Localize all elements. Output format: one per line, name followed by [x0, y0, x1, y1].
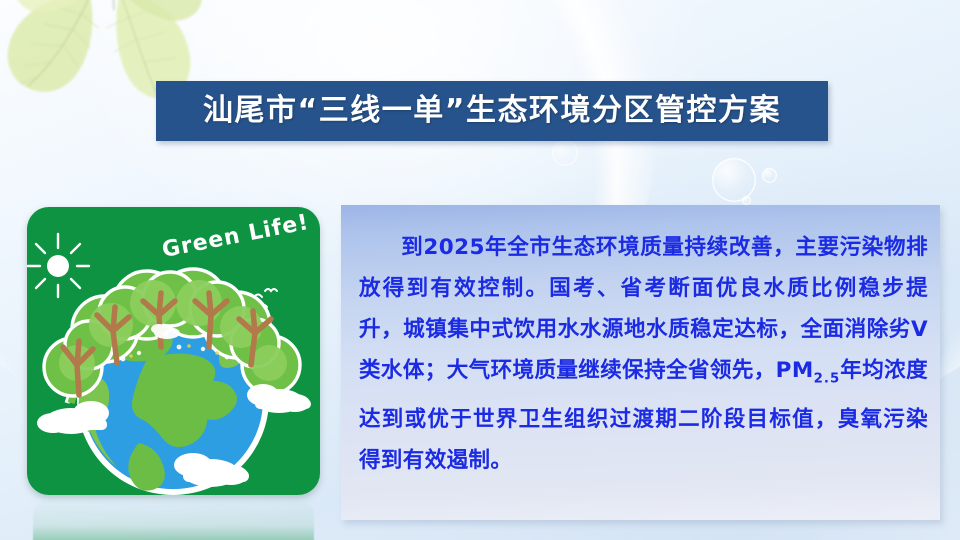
- bubble-decoration-icon: [552, 140, 578, 166]
- pm-subscript: 2.5: [814, 371, 841, 386]
- body-text-box: 到2025年全市生态环境质量持续改善，主要污染物排放得到有效控制。国考、省考断面…: [341, 205, 940, 520]
- bubble-decoration-icon: [712, 158, 756, 202]
- slide-title-bar: 汕尾市“三线一单”生态环境分区管控方案: [156, 81, 828, 141]
- illustration-card: Green Life!: [27, 207, 320, 495]
- bubble-decoration-icon: [742, 196, 751, 205]
- illustration-reflection: [33, 498, 314, 540]
- bubble-decoration-icon: [762, 168, 777, 183]
- body-paragraph: 到2025年全市生态环境质量持续改善，主要污染物排放得到有效控制。国考、省考断面…: [359, 227, 928, 481]
- page-title: 汕尾市“三线一单”生态环境分区管控方案: [203, 96, 781, 126]
- slide-canvas: 汕尾市“三线一单”生态环境分区管控方案: [0, 0, 960, 540]
- illustration-figure: Green Life!: [27, 207, 320, 504]
- sun-core-icon: [47, 255, 69, 277]
